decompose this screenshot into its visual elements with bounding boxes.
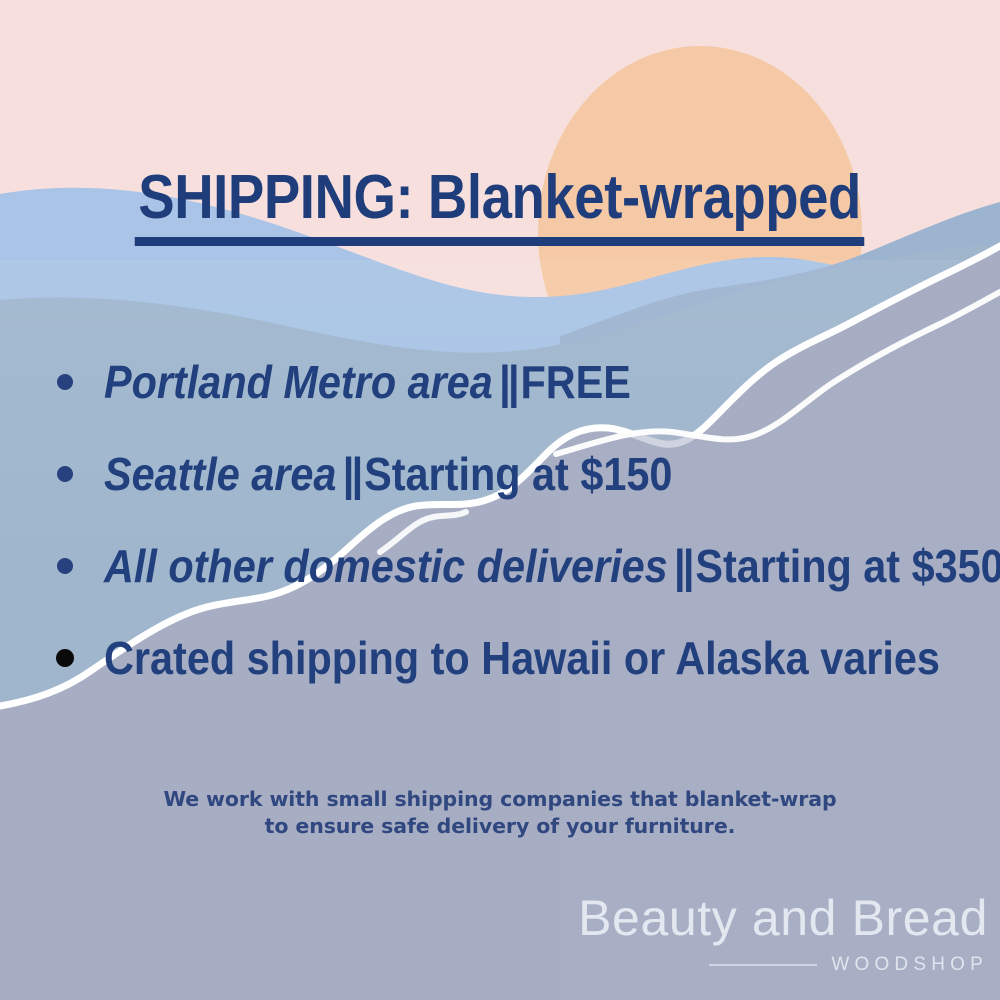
list-item-price: Starting at $350	[695, 540, 1000, 592]
list-item-separator: ||	[493, 356, 521, 408]
list-item-separator: ||	[336, 448, 364, 500]
shipping-info-poster: SHIPPING: Blanket-wrapped Portland Metro…	[0, 0, 1000, 1000]
list-item: Crated shipping to Hawaii or Alaska vari…	[0, 612, 1000, 704]
list-item-region: Seattle area	[104, 448, 336, 500]
footnote-line-1: We work with small shipping companies th…	[0, 786, 1000, 813]
brand-logo: Beauty and Bread WOODSHOP	[568, 893, 988, 974]
brand-subtitle: WOODSHOP	[831, 955, 988, 974]
list-item-price: Crated shipping to Hawaii or Alaska vari…	[104, 632, 940, 684]
poster-title-container: SHIPPING: Blanket-wrapped	[0, 166, 1000, 246]
brand-divider-line	[709, 964, 817, 966]
list-item-text: Portland Metro area||FREE	[104, 359, 631, 405]
page-title: SHIPPING: Blanket-wrapped	[135, 166, 865, 246]
list-item-text: All other domestic deliveries||Starting …	[104, 543, 1000, 589]
brand-subtitle-row: WOODSHOP	[568, 955, 988, 974]
list-item-separator: ||	[668, 540, 696, 592]
brand-name: Beauty and Bread	[568, 893, 988, 943]
navy-bullet-dot-icon	[57, 374, 73, 390]
list-item-price: FREE	[520, 356, 630, 408]
list-item-text: Crated shipping to Hawaii or Alaska vari…	[104, 635, 940, 681]
list-item: Portland Metro area||FREE	[0, 336, 1000, 428]
list-item-text: Seattle area||Starting at $150	[104, 451, 672, 497]
list-item-region: All other domestic deliveries	[104, 540, 668, 592]
footnote-text: We work with small shipping companies th…	[0, 786, 1000, 841]
list-item-price: Starting at $150	[364, 448, 672, 500]
navy-bullet-dot-icon	[57, 558, 73, 574]
navy-bullet-dot-icon	[57, 466, 73, 482]
black-bullet-dot-icon	[56, 649, 74, 667]
list-item: All other domestic deliveries||Starting …	[0, 520, 1000, 612]
list-item-region: Portland Metro area	[104, 356, 493, 408]
shipping-rates-list: Portland Metro area||FREE Seattle area||…	[0, 336, 1000, 704]
footnote-line-2: to ensure safe delivery of your furnitur…	[0, 813, 1000, 840]
list-item: Seattle area||Starting at $150	[0, 428, 1000, 520]
